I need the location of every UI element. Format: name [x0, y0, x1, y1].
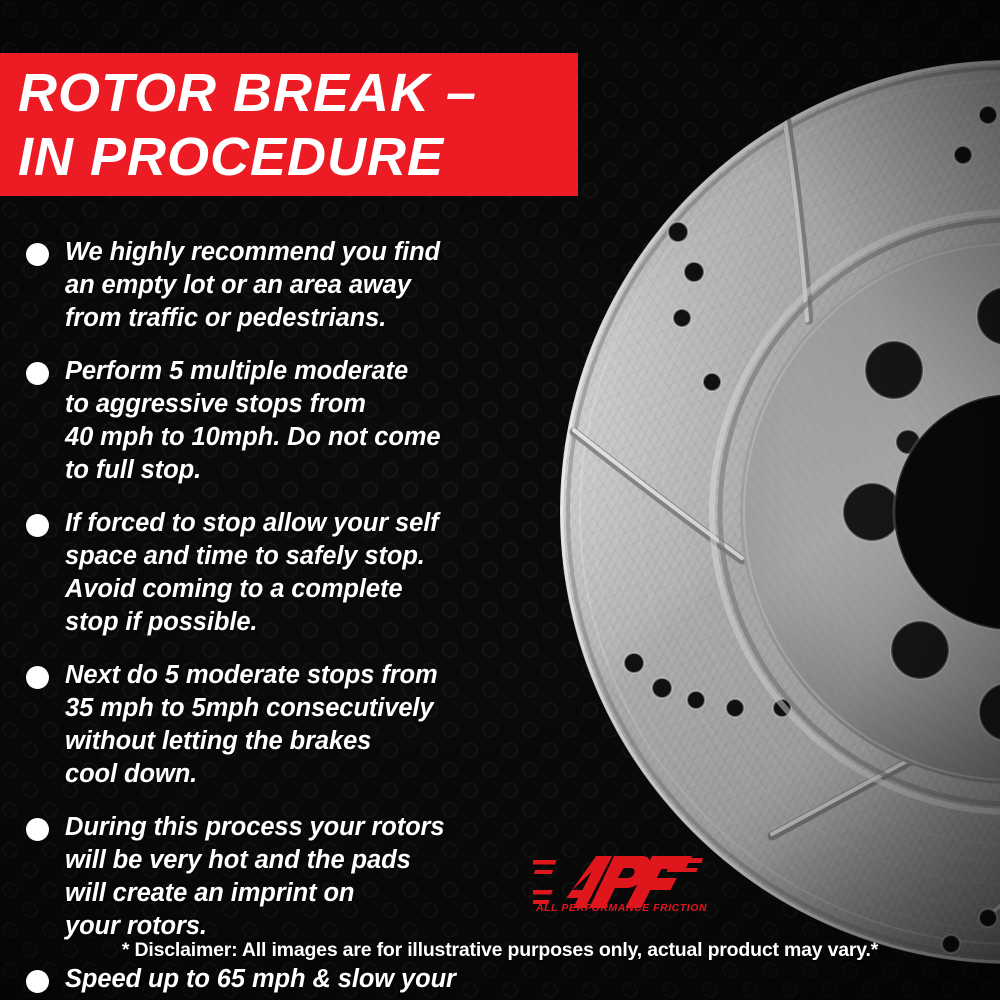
list-item: Speed up to 65 mph & slow your vehicle t…: [26, 963, 546, 1000]
promo-graphic: ROTOR BREAK – IN PROCEDURE We highly rec…: [0, 0, 1000, 1000]
bullet-dot-icon: [26, 362, 49, 385]
list-item: We highly recommend you find an empty lo…: [26, 236, 546, 335]
page-title-line-2: IN PROCEDURE: [18, 125, 578, 189]
list-item-text: Perform 5 multiple moderate to aggressiv…: [65, 355, 441, 487]
list-item: Perform 5 multiple moderate to aggressiv…: [26, 355, 546, 487]
apf-logo-tagline: ALL PERFORMANCE FRICTION: [536, 902, 706, 914]
bullet-dot-icon: [26, 970, 49, 993]
list-item: During this process your rotors will be …: [26, 811, 546, 943]
title-banner: ROTOR BREAK – IN PROCEDURE: [0, 53, 578, 196]
page-title-line-1: ROTOR BREAK –: [18, 61, 578, 125]
list-item-text: We highly recommend you find an empty lo…: [65, 236, 440, 335]
bullet-dot-icon: [26, 514, 49, 537]
bullet-dot-icon: [26, 243, 49, 266]
disclaimer-text: * Disclaimer: All images are for illustr…: [0, 939, 1000, 962]
list-item-text: Next do 5 moderate stops from 35 mph to …: [65, 659, 438, 791]
procedure-step-list: We highly recommend you find an empty lo…: [26, 236, 546, 1000]
list-item-text: During this process your rotors will be …: [65, 811, 444, 943]
list-item: If forced to stop allow your self space …: [26, 507, 546, 639]
list-item: Next do 5 moderate stops from 35 mph to …: [26, 659, 546, 791]
bullet-dot-icon: [26, 666, 49, 689]
list-item-text: Speed up to 65 mph & slow your vehicle t…: [65, 963, 456, 1000]
list-item-text: If forced to stop allow your self space …: [65, 507, 439, 639]
bullet-dot-icon: [26, 818, 49, 841]
